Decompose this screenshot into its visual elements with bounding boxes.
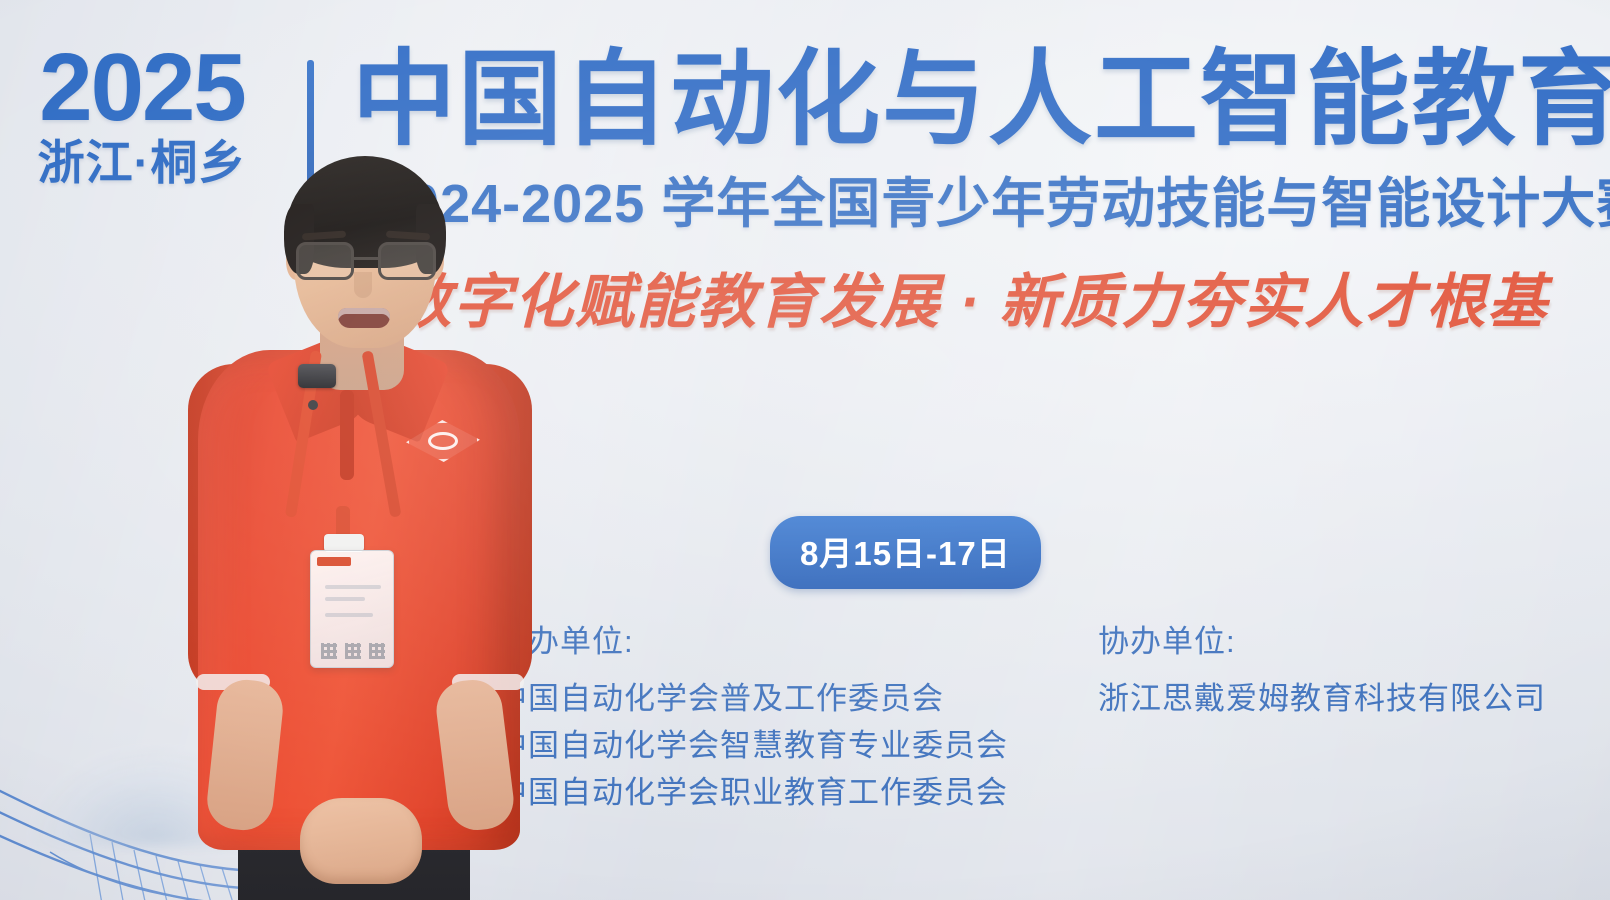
conference-backdrop-photo: 2025 浙江·桐乡 中国自动化与人工智能教育 2024-2025 学年全国青少… bbox=[0, 0, 1610, 900]
board-vignette bbox=[0, 0, 1610, 900]
